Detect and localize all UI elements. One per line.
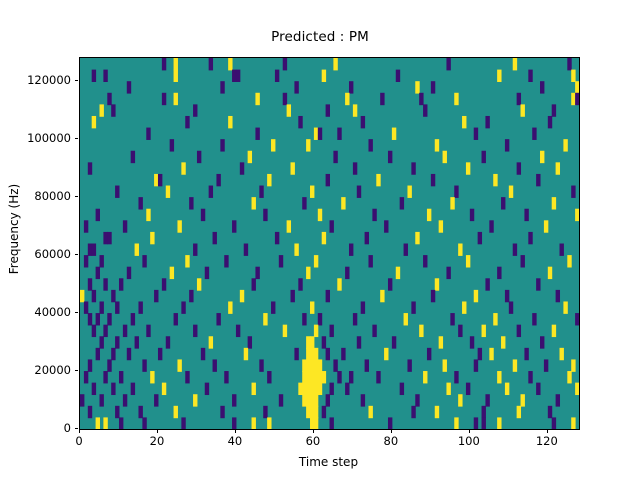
x-axis-label: Time step [79,455,578,469]
x-tick-label: 100 [458,434,480,448]
x-tick-mark [79,429,80,433]
y-tick-mark [75,138,79,139]
x-tick-mark [391,429,392,433]
y-tick-label: 40000 [34,305,71,319]
y-tick-mark [75,370,79,371]
y-tick-label: 80000 [34,189,71,203]
y-tick-mark [75,80,79,81]
y-tick-mark [75,312,79,313]
x-tick-mark [547,429,548,433]
heatmap-cells [80,58,579,429]
x-tick-label: 20 [150,434,165,448]
y-tick-mark [75,254,79,255]
x-tick-mark [313,429,314,433]
y-tick-label: 120000 [27,73,71,87]
x-tick-label: 80 [384,434,399,448]
y-tick-mark [75,196,79,197]
x-tick-mark [469,429,470,433]
y-tick-mark [75,428,79,429]
y-axis-label: Frequency (Hz) [7,119,21,339]
x-tick-mark [157,429,158,433]
y-tick-label: 20000 [34,363,71,377]
y-tick-label: 60000 [34,247,71,261]
matplotlib-figure: Predicted : PM 0204060801001200200004000… [0,0,640,480]
x-tick-label: 0 [75,434,82,448]
x-tick-label: 60 [306,434,321,448]
page-title: Predicted : PM [0,29,640,45]
x-tick-mark [235,429,236,433]
y-tick-label: 100000 [27,131,71,145]
x-tick-label: 40 [228,434,243,448]
x-tick-label: 120 [536,434,558,448]
heatmap-axes [79,57,580,430]
y-tick-label: 0 [64,421,71,435]
